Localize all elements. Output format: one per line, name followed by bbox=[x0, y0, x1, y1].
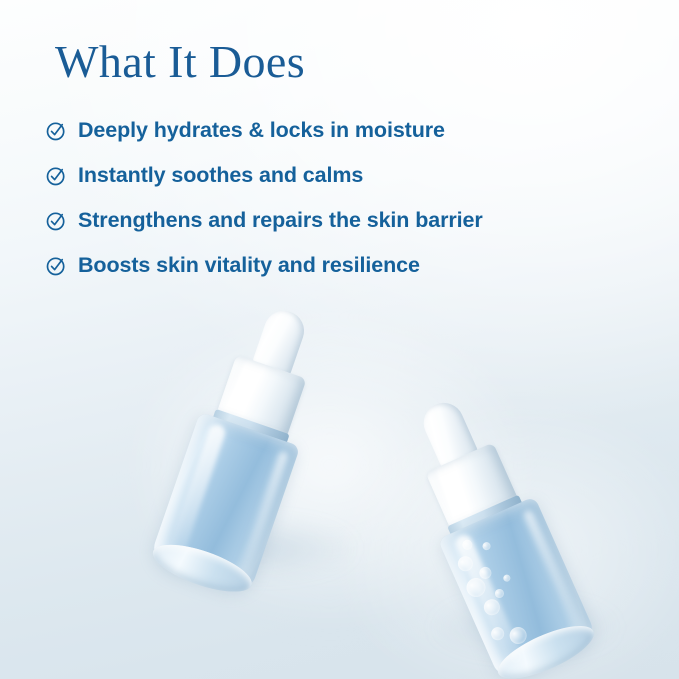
product-bottle-left: Avencia HYDRATING SERUM bbox=[114, 280, 372, 619]
list-item: Boosts skin vitality and resilience bbox=[44, 243, 644, 288]
check-circle-icon bbox=[44, 164, 68, 188]
benefit-label: Instantly soothes and calms bbox=[78, 165, 363, 187]
list-item: Deeply hydrates & locks in moisture bbox=[44, 108, 644, 153]
product-bottle-right: Avencia HYDRATING SERUM bbox=[356, 366, 633, 679]
brand-sub-label: HYDRATING SERUM bbox=[148, 597, 247, 598]
check-circle-icon bbox=[44, 119, 68, 143]
product-benefits-page: What It Does Deeply hydrates & locks in … bbox=[0, 0, 679, 679]
list-item: Instantly soothes and calms bbox=[44, 153, 644, 198]
benefit-label: Deeply hydrates & locks in moisture bbox=[78, 120, 445, 142]
benefits-list: Deeply hydrates & locks in moisture Inst… bbox=[44, 108, 644, 288]
page-title: What It Does bbox=[55, 37, 305, 88]
check-circle-icon bbox=[44, 254, 68, 278]
benefit-label: Boosts skin vitality and resilience bbox=[78, 255, 420, 277]
benefit-label: Strengthens and repairs the skin barrier bbox=[78, 210, 483, 232]
list-item: Strengthens and repairs the skin barrier bbox=[44, 198, 644, 243]
check-circle-icon bbox=[44, 209, 68, 233]
